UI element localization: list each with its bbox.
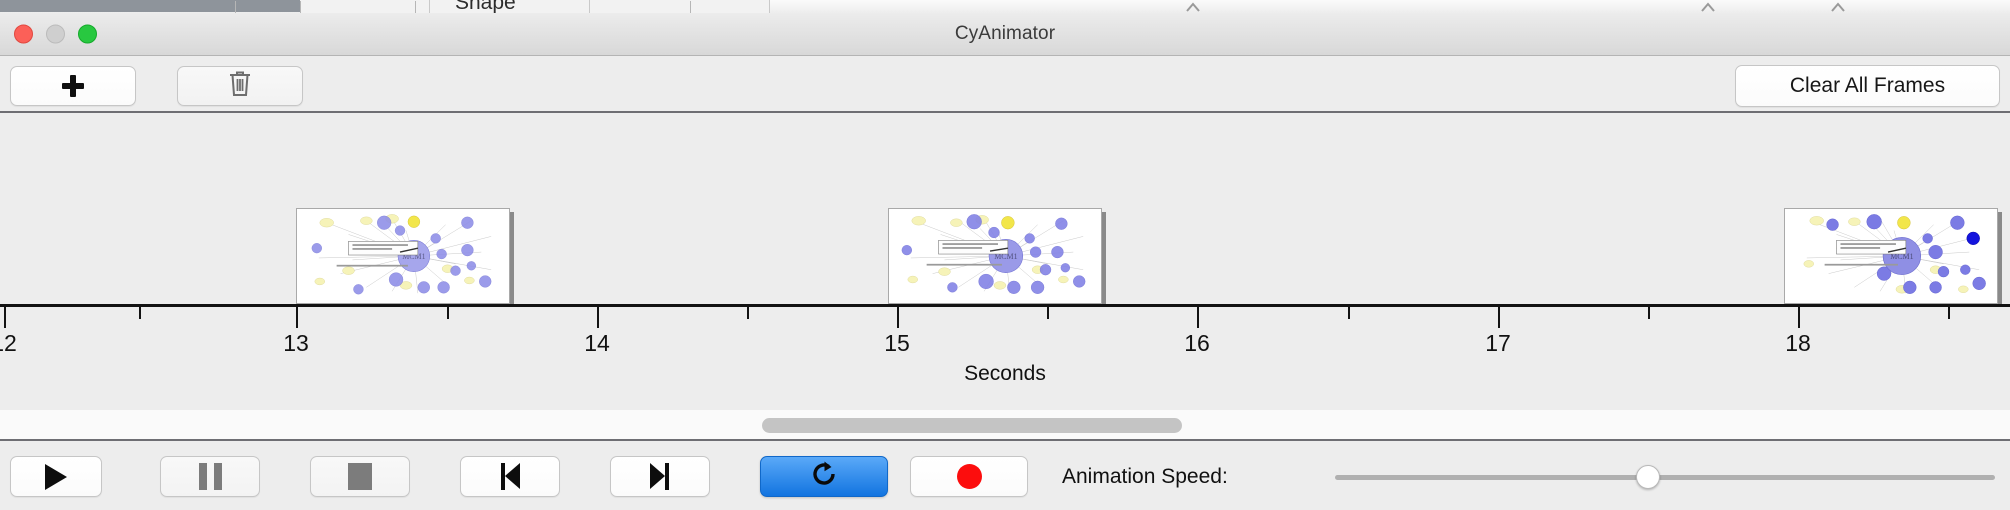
scrollbar-thumb[interactable]	[762, 418, 1182, 433]
axis-tick-major	[1798, 307, 1800, 328]
background-arrow-icon	[1830, 0, 1846, 12]
minimize-button[interactable]	[46, 25, 65, 44]
timeline-frame[interactable]: MCM1	[296, 208, 510, 304]
horizontal-scrollbar[interactable]	[0, 410, 2010, 441]
pause-button[interactable]	[160, 456, 260, 497]
toolbar: Clear All Frames	[0, 57, 2010, 113]
axis-tick-label: 15	[884, 330, 910, 357]
record-icon	[957, 464, 982, 489]
stop-icon	[348, 463, 372, 490]
axis-tick-label: 13	[283, 330, 309, 357]
clear-all-frames-button[interactable]: Clear All Frames	[1735, 65, 2000, 107]
axis-title: Seconds	[0, 362, 2010, 386]
background-divider	[235, 1, 236, 13]
axis-tick-minor	[139, 307, 141, 319]
timeline-frame[interactable]: MCM1	[1784, 208, 1998, 304]
axis-tick-label: 17	[1485, 330, 1511, 357]
skip-forward-button[interactable]	[610, 456, 710, 497]
axis-tick-minor	[447, 307, 449, 319]
transport-bar: Animation Speed:	[0, 443, 2010, 510]
network-thumbnail: MCM1	[889, 209, 1101, 303]
window-controls	[14, 25, 97, 44]
axis-tick-label: 12	[0, 330, 17, 357]
axis-tick-label: 16	[1184, 330, 1210, 357]
trash-icon	[227, 69, 253, 104]
background-window-label: Shape	[455, 0, 516, 14]
axis-tick-label: 14	[584, 330, 610, 357]
record-button[interactable]	[910, 456, 1028, 497]
slider-track[interactable]	[1335, 475, 1995, 480]
play-icon	[45, 464, 67, 490]
background-tab-selected	[0, 0, 300, 12]
skip-back-button[interactable]	[460, 456, 560, 497]
background-cell	[590, 0, 770, 13]
add-frame-button[interactable]	[10, 66, 136, 106]
background-cell	[300, 0, 430, 13]
timeline-panel[interactable]: MCM1	[0, 115, 2010, 304]
axis-tick-minor	[1648, 307, 1650, 319]
axis-tick-major	[4, 307, 6, 328]
axis-tick-label: 18	[1785, 330, 1811, 357]
play-button[interactable]	[10, 456, 102, 497]
background-divider	[415, 1, 416, 13]
timeline-axis: 12 13 14 15 16 17 18 Seconds	[0, 304, 2010, 410]
zoom-button[interactable]	[78, 25, 97, 44]
background-arrow-icon	[1185, 0, 1201, 12]
axis-tick-major	[296, 307, 298, 328]
loop-button[interactable]	[760, 456, 888, 497]
animation-speed-slider[interactable]	[1335, 465, 1995, 489]
plus-icon	[60, 73, 86, 99]
network-thumbnail: MCM1	[1785, 209, 1997, 303]
axis-tick-major	[597, 307, 599, 328]
timeline-frame[interactable]: MCM1	[888, 208, 1102, 304]
title-bar: CyAnimator	[0, 13, 2010, 56]
axis-tick-minor	[1948, 307, 1950, 319]
axis-tick-major	[1498, 307, 1500, 328]
slider-thumb[interactable]	[1636, 465, 1660, 489]
window-title: CyAnimator	[955, 23, 1055, 45]
axis-tick-minor	[1047, 307, 1049, 319]
background-window-strip: Shape	[0, 0, 2010, 14]
background-arrow-icon	[1700, 0, 1716, 12]
pause-icon	[199, 463, 222, 490]
network-thumbnail: MCM1	[297, 209, 509, 303]
stop-button[interactable]	[310, 456, 410, 497]
animation-speed-label: Animation Speed:	[1062, 465, 1228, 489]
cyanimator-window: Shape CyAnimator	[0, 0, 2010, 510]
axis-tick-major	[1197, 307, 1199, 328]
background-divider	[690, 1, 691, 13]
delete-frame-button[interactable]	[177, 66, 303, 106]
axis-tick-minor	[1348, 307, 1350, 319]
axis-line	[0, 304, 2010, 307]
loop-icon	[809, 459, 839, 494]
clear-all-frames-label: Clear All Frames	[1790, 74, 1945, 98]
axis-tick-major	[897, 307, 899, 328]
background-divider	[300, 1, 301, 13]
axis-tick-minor	[747, 307, 749, 319]
skip-end-icon	[647, 463, 673, 490]
skip-start-icon	[497, 463, 523, 490]
close-button[interactable]	[14, 25, 33, 44]
